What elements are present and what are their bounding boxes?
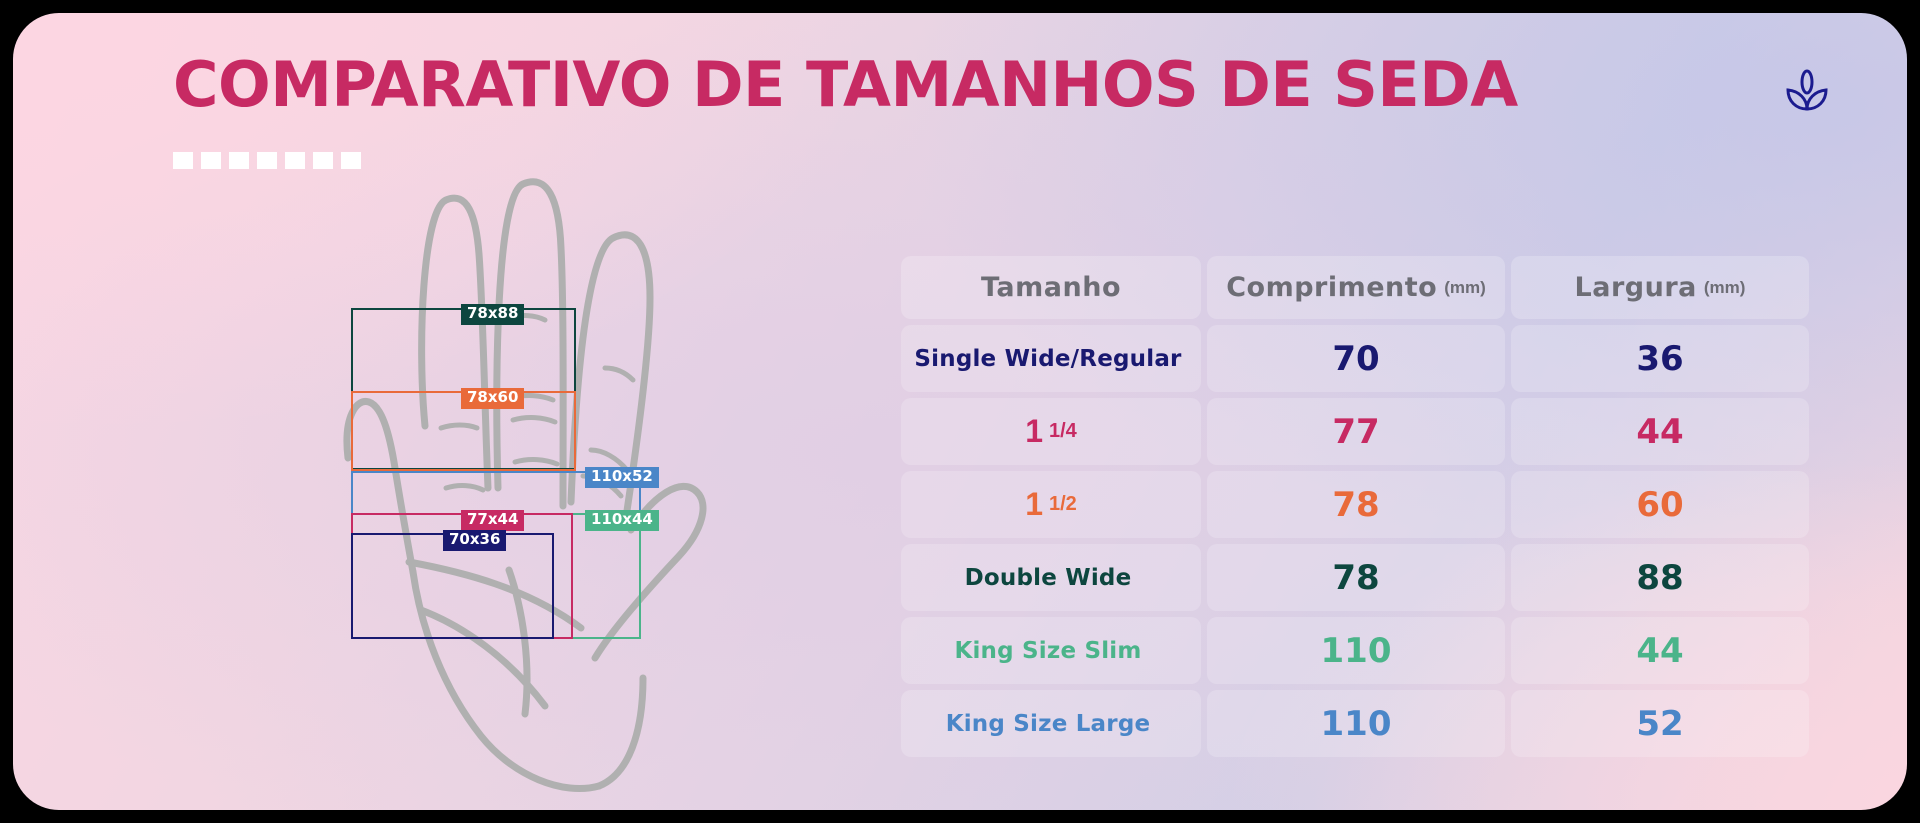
comprimento-value: 110 xyxy=(1321,631,1392,671)
rect-label-70x36: 70x36 xyxy=(443,530,506,551)
largura-value: 44 xyxy=(1636,631,1683,671)
title-dash xyxy=(257,152,277,169)
title-dash xyxy=(201,152,221,169)
size-comparison-table: Tamanho Comprimento (mm) Largura (mm) Si… xyxy=(901,256,1811,763)
comprimento-value: 78 xyxy=(1332,485,1379,525)
infographic-card: COMPARATIVO DE TAMANHOS DE SEDA xyxy=(13,13,1907,810)
cell-largura: 52 xyxy=(1511,690,1809,757)
size-rectangles-overlay: 78x88 78x60 110x52 110x44 77x44 70x36 xyxy=(313,158,783,808)
title-dash xyxy=(173,152,193,169)
largura-value: 36 xyxy=(1636,339,1683,379)
size-fraction-label: 1/4 xyxy=(1049,420,1077,443)
hand-illustration: 78x88 78x60 110x52 110x44 77x44 70x36 xyxy=(313,158,783,808)
cell-comprimento: 78 xyxy=(1207,544,1505,611)
table-row: Single Wide/Regular 70 36 xyxy=(901,325,1811,392)
table-header-row: Tamanho Comprimento (mm) Largura (mm) xyxy=(901,256,1811,319)
rect-label-77x44: 77x44 xyxy=(461,510,524,531)
size-name-label: Double Wide xyxy=(965,565,1132,591)
table-row: King Size Large 110 52 xyxy=(901,690,1811,757)
table-header-tamanho: Tamanho xyxy=(901,256,1201,319)
cell-size-name: Single Wide/Regular xyxy=(901,325,1201,392)
size-name-label: King Size Slim xyxy=(954,638,1141,664)
cell-comprimento: 110 xyxy=(1207,617,1505,684)
title-dash xyxy=(285,152,305,169)
header-label-comprimento: Comprimento xyxy=(1226,272,1437,303)
table-row: Double Wide 78 88 xyxy=(901,544,1811,611)
page-title: COMPARATIVO DE TAMANHOS DE SEDA xyxy=(173,48,1518,121)
size-name-label: 1 xyxy=(1025,413,1043,450)
comprimento-value: 77 xyxy=(1332,412,1379,452)
cell-comprimento: 110 xyxy=(1207,690,1505,757)
cell-largura: 44 xyxy=(1511,617,1809,684)
comprimento-value: 70 xyxy=(1332,339,1379,379)
table-row: 1 1/2 78 60 xyxy=(901,471,1811,538)
size-name-label: Single Wide/Regular xyxy=(914,346,1181,372)
largura-value: 44 xyxy=(1636,412,1683,452)
table-row: King Size Slim 110 44 xyxy=(901,617,1811,684)
largura-value: 88 xyxy=(1636,558,1683,598)
comprimento-value: 110 xyxy=(1321,704,1392,744)
cell-size-name: King Size Slim xyxy=(901,617,1201,684)
size-name-label: King Size Large xyxy=(946,711,1151,737)
cell-comprimento: 77 xyxy=(1207,398,1505,465)
header-label-tamanho: Tamanho xyxy=(981,272,1121,303)
header-unit-comprimento: (mm) xyxy=(1444,278,1486,298)
size-fraction-label: 1/2 xyxy=(1049,493,1077,516)
rect-label-78x60: 78x60 xyxy=(461,388,524,409)
leaf-sprout-icon xyxy=(1779,65,1835,121)
rect-label-110x44: 110x44 xyxy=(585,510,659,531)
cell-largura: 36 xyxy=(1511,325,1809,392)
rect-label-78x88: 78x88 xyxy=(461,304,524,325)
header-unit-largura: (mm) xyxy=(1704,278,1746,298)
cell-largura: 88 xyxy=(1511,544,1809,611)
table-header-comprimento: Comprimento (mm) xyxy=(1207,256,1505,319)
cell-largura: 60 xyxy=(1511,471,1809,538)
cell-size-name: 1 1/2 xyxy=(901,471,1201,538)
size-name-label: 1 xyxy=(1025,486,1043,523)
table-header-largura: Largura (mm) xyxy=(1511,256,1809,319)
cell-comprimento: 70 xyxy=(1207,325,1505,392)
header-label-largura: Largura xyxy=(1575,272,1697,303)
cell-comprimento: 78 xyxy=(1207,471,1505,538)
rect-label-110x52: 110x52 xyxy=(585,467,659,488)
title-dash xyxy=(229,152,249,169)
cell-size-name: Double Wide xyxy=(901,544,1201,611)
largura-value: 60 xyxy=(1636,485,1683,525)
cell-largura: 44 xyxy=(1511,398,1809,465)
comprimento-value: 78 xyxy=(1332,558,1379,598)
table-row: 1 1/4 77 44 xyxy=(901,398,1811,465)
cell-size-name: King Size Large xyxy=(901,690,1201,757)
largura-value: 52 xyxy=(1636,704,1683,744)
cell-size-name: 1 1/4 xyxy=(901,398,1201,465)
